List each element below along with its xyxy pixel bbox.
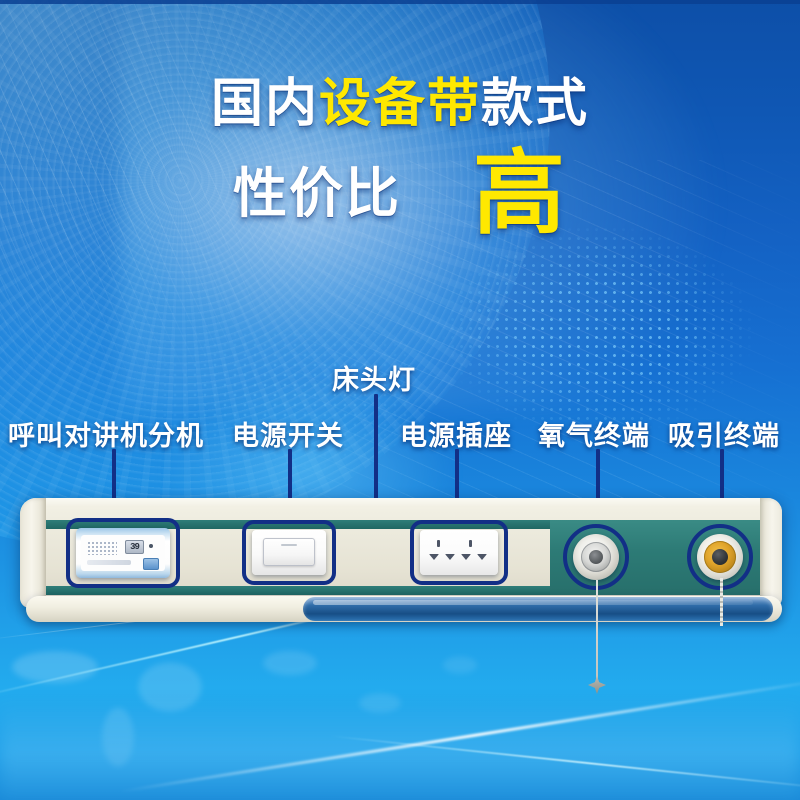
headline-part-2: 设备带 [319, 75, 481, 133]
pull-cord[interactable] [596, 580, 598, 680]
headline-part-3: 款式 [481, 75, 589, 133]
headline-emphasis: 高 [473, 148, 567, 240]
callout-label-nurse-call-intercom: 呼叫对讲机分机 [8, 414, 204, 453]
highlight-box-nurse-call-intercom [66, 518, 180, 588]
panel-blue-rail-insert [303, 597, 773, 621]
promo-banner: 国内设备带款式 性价比高 呼叫对讲机分机 电源开关 床头灯 电源插座 氧气终端 … [0, 0, 800, 800]
panel-end-cap-right [760, 498, 782, 608]
callout-label-power-socket: 电源插座 [400, 414, 512, 453]
panel-end-cap-left [20, 498, 46, 608]
bottom-glow [0, 700, 800, 800]
callout-label-bed-lamp: 床头灯 [332, 358, 416, 397]
highlight-box-power-socket [410, 520, 508, 585]
callout-label-power-switch: 电源开关 [232, 414, 344, 453]
headline-block: 国内设备带款式 性价比高 [0, 78, 800, 240]
highlight-box-power-switch [242, 520, 336, 585]
suction-terminal-cord [720, 578, 723, 626]
headline-line-1: 国内设备带款式 [0, 78, 800, 130]
top-edge-bar [0, 0, 800, 4]
headline-subtitle: 性价比 [233, 167, 401, 221]
headline-part-1: 国内 [211, 75, 319, 133]
callout-label-oxygen-terminal: 氧气终端 [538, 414, 650, 453]
callout-label-suction-terminal: 吸引终端 [668, 414, 780, 453]
headline-line-2: 性价比高 [0, 148, 800, 240]
